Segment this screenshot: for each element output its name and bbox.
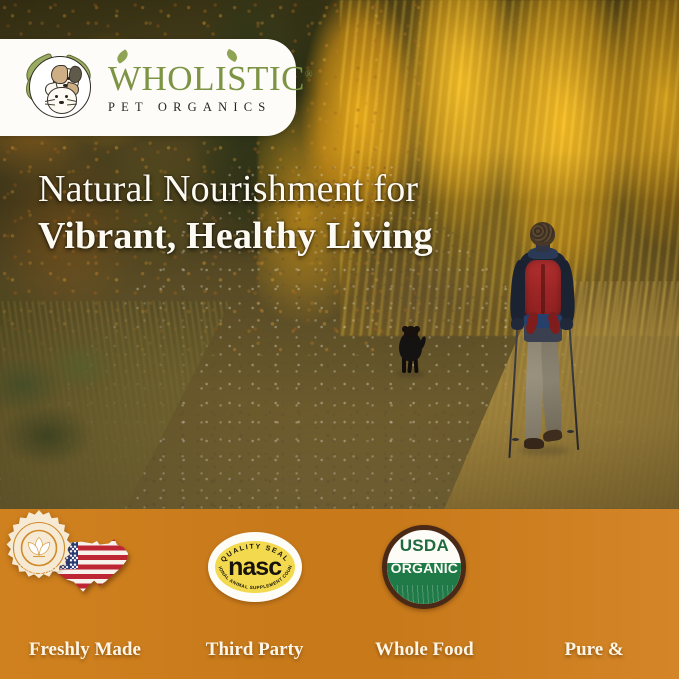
usda-organic-seal-icon: USDA ORGANIC (382, 528, 466, 606)
seal-star-left (16, 547, 19, 550)
left-bushes (0, 340, 190, 490)
trust-badge-nasc: QUALITY SEAL NATIONAL ANIMAL SUPPLEMENT … (170, 509, 340, 679)
pole-basket (567, 430, 574, 433)
trust-badge-caption: Third Party Certified (206, 615, 304, 679)
trust-badge-caption: Whole Food Ingredients (375, 615, 474, 679)
brand-wordmark-text: WHOLISTIC (108, 59, 305, 98)
caption-line-1: Freshly Made (29, 638, 141, 661)
black-dog (396, 326, 426, 376)
trust-badge-caption: Freshly Made In the USA (29, 615, 141, 679)
nasc-arc-text: QUALITY SEAL NATIONAL ANIMAL SUPPLEMENT … (208, 532, 302, 602)
hiker-hand (511, 318, 524, 330)
caption-line-1: Third Party (206, 638, 304, 661)
dog-ear-shape (67, 64, 84, 84)
headline-line-1: Natural Nourishment for (38, 168, 433, 211)
nasc-seal: QUALITY SEAL NATIONAL ANIMAL SUPPLEMENT … (208, 532, 302, 602)
wholistic-pet-mark-icon (22, 51, 96, 125)
brand-tagline: PET ORGANICS (108, 100, 313, 115)
seal-star-right (59, 547, 62, 550)
hiker-leg (540, 334, 562, 439)
hero-headline: Natural Nourishment for Vibrant, Healthy… (38, 168, 433, 260)
hiker-hair-texture (531, 224, 554, 242)
brand-banner: WHOLISTIC® PET ORGANICS Natural Nourishm… (0, 0, 679, 679)
caption-line-1: Pure & (558, 638, 630, 661)
nasc-quality-seal-icon: QUALITY SEAL NATIONAL ANIMAL SUPPLEMENT … (208, 528, 302, 606)
registered-mark: ® (305, 69, 313, 80)
hiking-boot (542, 429, 562, 443)
hiking-boot (524, 438, 544, 449)
trust-badge-pure: 100% PURE 100% PURE Pure & Effective (509, 509, 679, 679)
cat-face-icon (44, 83, 78, 114)
trust-badge-caption: Pure & Effective (558, 615, 630, 679)
svg-text:NATIONAL ANIMAL SUPPLEMENT COU: NATIONAL ANIMAL SUPPLEMENT COUNCIL (208, 532, 293, 590)
trust-badge-bar: Freshly Made In the USA QUALITY SEAL (0, 509, 679, 679)
usda-bottom-text: ORGANIC (387, 560, 461, 576)
brand-logo-badge[interactable]: WHOLISTIC® PET ORGANICS (0, 39, 296, 136)
pole-basket (512, 438, 519, 441)
svg-text:QUALITY SEAL: QUALITY SEAL (220, 543, 290, 563)
brand-wordmark: WHOLISTIC® (108, 61, 313, 96)
dog-face-patch (51, 65, 68, 84)
usda-seal: USDA ORGANIC (382, 525, 466, 609)
cat-nose (59, 101, 64, 104)
backpack-seam (541, 264, 545, 314)
pure-seal: 100% PURE 100% PURE (0, 509, 78, 587)
logo-typography: WHOLISTIC® PET ORGANICS (108, 61, 313, 115)
hiker-hand (560, 318, 573, 330)
trust-badge-usda: USDA ORGANIC Whole Food Ingredients (340, 509, 510, 679)
dog-head (404, 326, 418, 338)
caption-line-1: Whole Food (375, 638, 474, 661)
hiker (497, 222, 583, 468)
logo-circle-outline (29, 56, 91, 118)
headline-line-2: Vibrant, Healthy Living (38, 214, 433, 260)
usda-top-text: USDA (387, 536, 461, 556)
